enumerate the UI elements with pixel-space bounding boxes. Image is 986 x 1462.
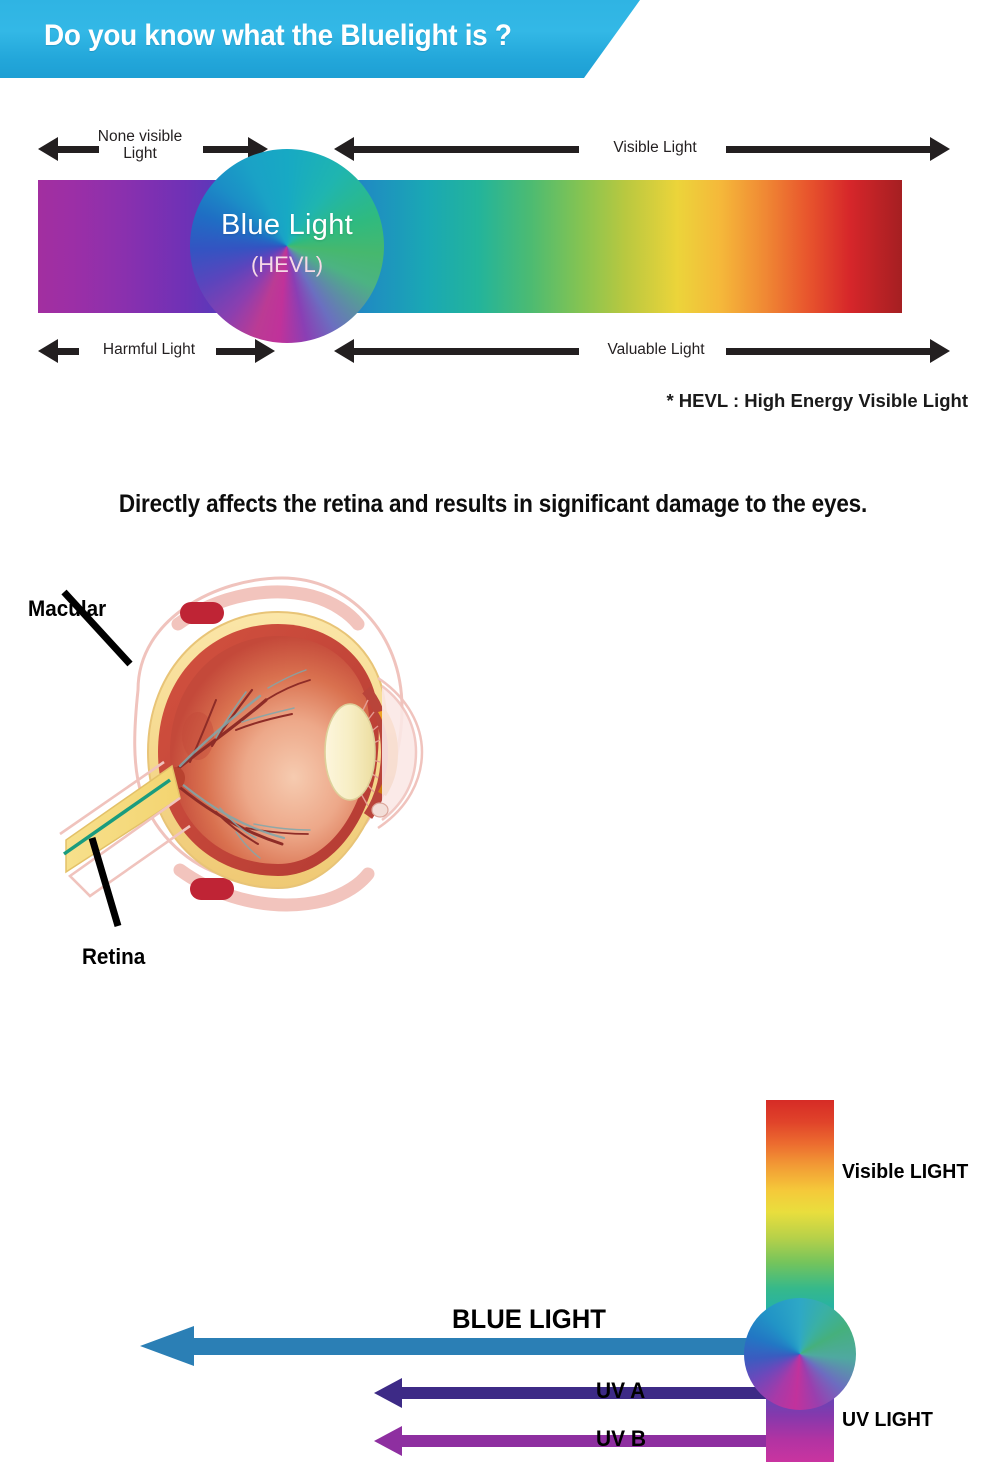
arrow-label-line2: Light <box>123 145 157 162</box>
hevl-footnote: * HEVL : High Energy Visible Light <box>666 390 968 412</box>
arrow-head-right-icon <box>930 137 950 161</box>
visible-light-label: Visible LIGHT <box>842 1160 968 1184</box>
ray-label-blue-light: BLUE LIGHT <box>452 1304 606 1335</box>
cornea <box>382 686 416 820</box>
retina-label: Retina <box>82 944 145 970</box>
macular-label: Macular <box>28 596 106 622</box>
arrow-head-left-icon <box>38 137 58 161</box>
muscle-insertion-top <box>180 602 224 624</box>
visible-spectrum-bar <box>38 180 902 313</box>
arrow-label-visible-light: Visible Light <box>580 139 730 156</box>
ray-label-uv-b: UV B <box>596 1426 646 1452</box>
arrow-head-left-icon <box>334 339 354 363</box>
arrow-label-none-visible-light: None visible Light <box>68 128 212 162</box>
section-heading: Directly affects the retina and results … <box>49 490 936 519</box>
ray-arrow-head-icon <box>374 1426 402 1456</box>
muscle-insertion-bottom <box>190 878 234 900</box>
arrow-head-left-icon <box>38 339 58 363</box>
arrow-head-right-icon <box>255 339 275 363</box>
uv-light-label: UV LIGHT <box>842 1408 933 1432</box>
eye-diagram-section: BLUE LIGHT UV A UV B Visible LIGHT UV LI… <box>0 540 986 978</box>
arrow-line <box>353 348 579 355</box>
arrow-label-harmful-light: Harmful Light <box>76 341 222 358</box>
lens <box>325 704 375 800</box>
arrow-line <box>726 146 931 153</box>
spectrum-diagram: None visible Light Visible Light Blue Li… <box>0 0 986 430</box>
light-source-circle <box>744 1298 856 1410</box>
arrow-line <box>216 348 256 355</box>
hevl-label: (HEVL) <box>190 252 384 278</box>
arrow-line <box>726 348 931 355</box>
arrow-head-right-icon <box>930 339 950 363</box>
arrow-line <box>353 146 579 153</box>
blue-light-label: Blue Light <box>190 209 384 242</box>
arrow-label-valuable-light: Valuable Light <box>578 341 734 358</box>
ray-line <box>192 1338 820 1355</box>
arrow-head-left-icon <box>334 137 354 161</box>
ray-label-uv-a: UV A <box>596 1378 645 1404</box>
ray-arrow-head-icon <box>374 1378 402 1408</box>
arrow-label-line1: None visible <box>98 128 182 145</box>
blue-light-circle <box>190 149 384 343</box>
iridocorneal-angle <box>372 803 388 817</box>
ray-arrow-head-icon <box>140 1326 194 1366</box>
